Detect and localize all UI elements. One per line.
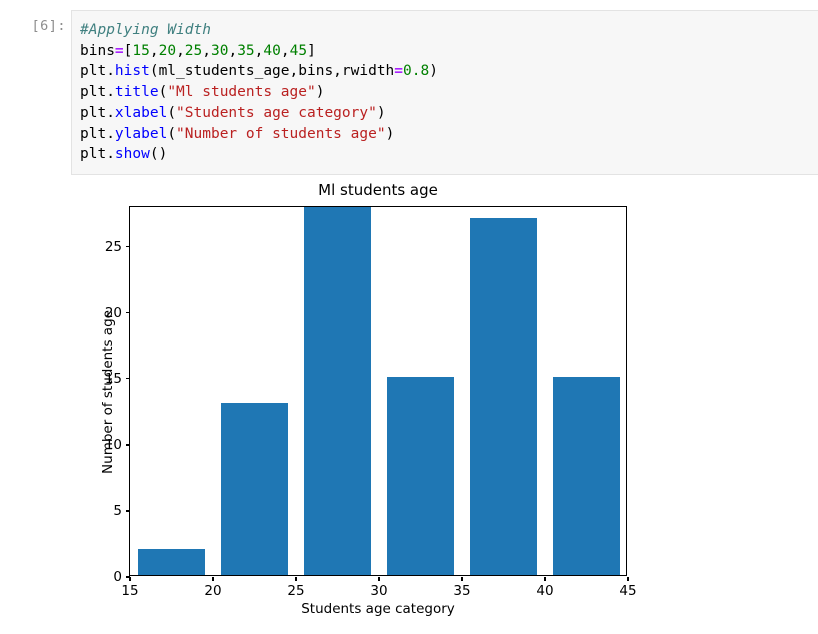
code-token-name: plt. [80, 63, 115, 79]
x-axis-tick-label: 40 [536, 583, 553, 599]
code-token-punct: ) [429, 63, 438, 79]
code-token-str: "Number of students age" [176, 126, 386, 142]
notebook-code-cell: [6]: #Applying Widthbins=[15,20,25,30,35… [0, 0, 818, 176]
code-line: plt.ylabel("Number of students age") [80, 124, 438, 145]
x-axis-tick [378, 577, 379, 581]
x-axis-tick-label: 15 [121, 583, 138, 599]
chart-title: Ml students age [129, 181, 627, 199]
y-axis-tick-label: 15 [105, 371, 122, 387]
x-axis-tick [295, 577, 296, 581]
chart-bar [387, 377, 453, 575]
y-axis-tick-label: 0 [113, 569, 122, 585]
code-token-name: plt. [80, 84, 115, 100]
chart-bar [553, 377, 619, 575]
chart-plot-area [130, 207, 626, 575]
y-axis-tick [126, 576, 130, 577]
code-token-punct: ] [307, 43, 316, 59]
code-token-name: plt. [80, 126, 115, 142]
x-axis-tick-label: 25 [287, 583, 304, 599]
x-axis-tick [212, 577, 213, 581]
code-token-punct: , [150, 43, 159, 59]
x-axis-tick-label: 35 [453, 583, 470, 599]
code-editor[interactable]: #Applying Widthbins=[15,20,25,30,35,40,4… [71, 10, 818, 175]
code-token-punct: ) [386, 126, 395, 142]
code-token-func: xlabel [115, 105, 167, 121]
y-axis-tick [126, 510, 130, 511]
code-token-punct: , [228, 43, 237, 59]
code-token-punct: ( [167, 126, 176, 142]
y-axis-tick [126, 246, 130, 247]
code-token-punct: , [202, 43, 211, 59]
code-line: plt.title("Ml students age") [80, 82, 438, 103]
code-token-num: 25 [185, 43, 202, 59]
code-token-op: = [115, 43, 124, 59]
y-axis-tick [126, 378, 130, 379]
code-token-func: hist [115, 63, 150, 79]
y-axis-tick-label: 5 [113, 503, 122, 519]
chart-bar [470, 218, 536, 575]
y-axis-tick-label: 25 [105, 239, 122, 255]
code-token-num: 0.8 [403, 63, 429, 79]
code-token-punct: ) [377, 105, 386, 121]
code-token-num: 20 [159, 43, 176, 59]
code-token-punct: (ml_students_age,bins,rwidth [150, 63, 394, 79]
code-line: plt.show() [80, 144, 438, 165]
code-line: #Applying Width [80, 20, 438, 41]
code-token-num: 15 [132, 43, 149, 59]
code-token-punct: () [150, 146, 167, 162]
code-token-func: ylabel [115, 126, 167, 142]
chart-bar [138, 549, 204, 575]
code-token-name: plt. [80, 146, 115, 162]
code-token-punct: ( [159, 84, 168, 100]
code-token-punct: ) [316, 84, 325, 100]
code-token-punct: , [176, 43, 185, 59]
code-source-text[interactable]: #Applying Widthbins=[15,20,25,30,35,40,4… [80, 20, 438, 165]
code-token-op: = [394, 63, 403, 79]
x-axis-tick [461, 577, 462, 581]
code-token-num: 35 [237, 43, 254, 59]
y-axis-tick [126, 444, 130, 445]
x-axis-tick [627, 577, 628, 581]
x-axis-tick [544, 577, 545, 581]
code-token-num: 30 [211, 43, 228, 59]
code-token-num: 45 [290, 43, 307, 59]
code-line: plt.xlabel("Students age category") [80, 103, 438, 124]
chart-axes: Number of students age 15202530354045051… [129, 206, 627, 576]
y-axis-tick-label: 20 [105, 305, 122, 321]
chart-bar [221, 403, 287, 575]
code-token-name: plt. [80, 105, 115, 121]
code-token-func: title [115, 84, 159, 100]
code-line: plt.hist(ml_students_age,bins,rwidth=0.8… [80, 61, 438, 82]
code-line: bins=[15,20,25,30,35,40,45] [80, 41, 438, 62]
x-axis-tick-label: 20 [204, 583, 221, 599]
x-axis-label: Students age category [129, 601, 627, 617]
code-token-punct: , [281, 43, 290, 59]
code-token-punct: ( [167, 105, 176, 121]
matplotlib-figure-output: Ml students age Number of students age 1… [0, 176, 818, 634]
code-token-name: bins [80, 43, 115, 59]
code-token-comment: #Applying Width [80, 22, 211, 38]
code-token-str: "Students age category" [176, 105, 377, 121]
x-axis-tick-label: 30 [370, 583, 387, 599]
chart-bar [304, 207, 370, 575]
cell-execution-prompt: [6]: [14, 18, 66, 34]
y-axis-tick [126, 312, 130, 313]
code-token-num: 40 [263, 43, 280, 59]
code-token-str: "Ml students age" [167, 84, 315, 100]
y-axis-tick-label: 10 [105, 437, 122, 453]
code-token-func: show [115, 146, 150, 162]
x-axis-tick-label: 45 [619, 583, 636, 599]
